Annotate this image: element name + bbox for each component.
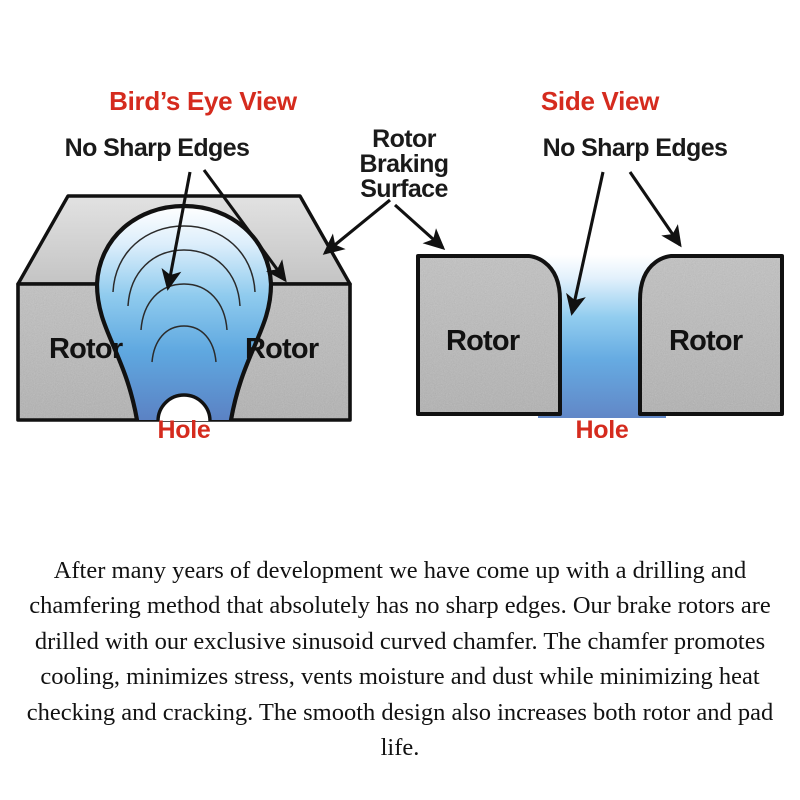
braking-surface-line-1: Rotor <box>338 127 470 152</box>
figure-canvas: Bird’s Eye View No Sharp Edges Rotor Bra… <box>0 0 800 800</box>
right-panel-hole-label: Hole <box>542 418 662 444</box>
arrow-braking-surface-right <box>395 205 443 248</box>
left-panel-hole-label: Hole <box>124 418 244 444</box>
right-diagram-group <box>395 172 782 418</box>
left-callout-no-sharp-edges: No Sharp Edges <box>22 136 292 162</box>
arrow-braking-surface <box>325 200 390 253</box>
left-callout-braking-surface: Rotor Braking Surface <box>338 127 470 202</box>
braking-surface-line-3: Surface <box>338 177 470 202</box>
left-panel-rotor-label-right: Rotor <box>245 333 318 366</box>
description-paragraph: After many years of development we have … <box>8 553 792 766</box>
left-panel-title: Bird’s Eye View <box>58 88 348 115</box>
arrow-no-sharp-edges-right-b <box>630 172 680 245</box>
right-panel-rotor-label-right: Rotor <box>669 325 742 358</box>
braking-surface-line-2: Braking <box>338 152 470 177</box>
right-panel-rotor-label-left: Rotor <box>446 325 519 358</box>
right-callout-no-sharp-edges: No Sharp Edges <box>497 136 773 162</box>
right-panel-title: Side View <box>505 88 695 115</box>
left-panel-rotor-label-left: Rotor <box>49 333 122 366</box>
left-diagram-group <box>18 170 390 421</box>
